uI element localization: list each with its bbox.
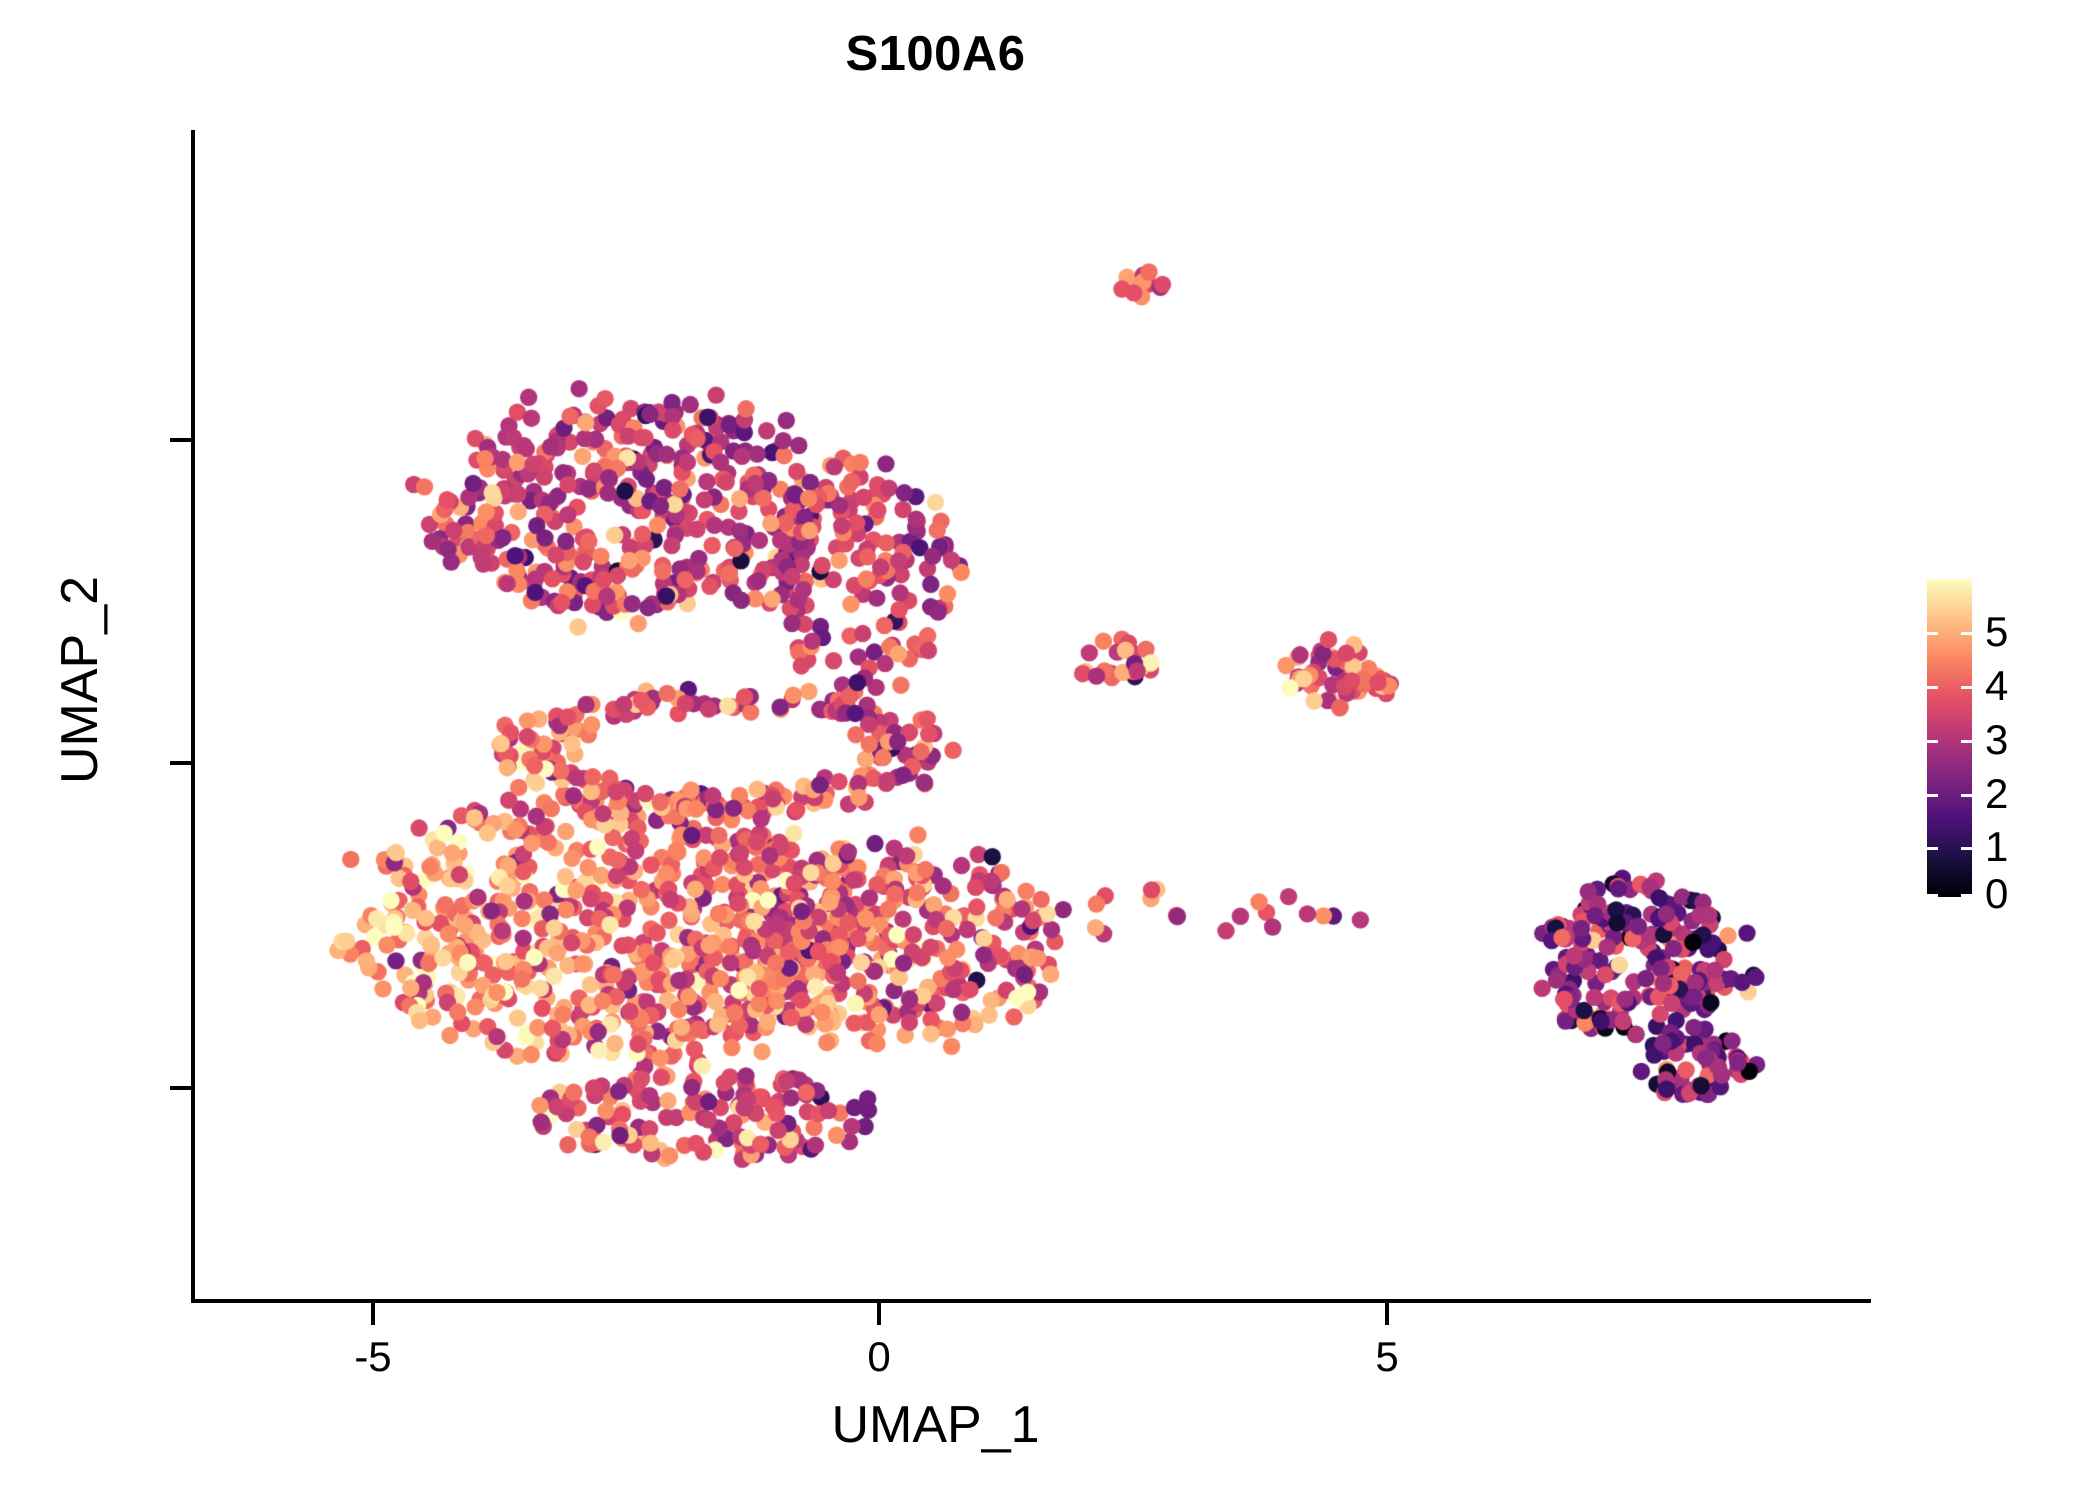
x-tick-label-neg5: -5 — [313, 1336, 433, 1378]
colorbar-tick-2-right — [1961, 794, 1972, 797]
plot-panel — [193, 130, 1871, 1301]
y-tick-neg4 — [170, 1086, 192, 1090]
page-title: S100A6 — [0, 26, 1871, 82]
x-axis-title: UMAP_1 — [0, 1395, 1871, 1455]
colorbar-label-5: 5 — [1985, 611, 2008, 653]
scatter-canvas — [193, 130, 1871, 1301]
colorbar-label-1: 1 — [1985, 826, 2008, 868]
colorbar-tick-4-right — [1961, 686, 1972, 689]
umap-feature-plot: S100A6 4 0 -4 -5 0 5 UMAP_1 UMAP_2 5 4 3… — [0, 0, 2100, 1500]
colorbar-label-2: 2 — [1985, 773, 2008, 815]
y-tick-4 — [170, 438, 192, 442]
colorbar-tick-3-left — [1927, 740, 1938, 743]
y-tick-0 — [170, 761, 192, 765]
colorbar-tick-1-left — [1927, 847, 1938, 850]
colorbar-tick-2-left — [1927, 794, 1938, 797]
colorbar-label-3: 3 — [1985, 719, 2008, 761]
colorbar-tick-1-right — [1961, 847, 1972, 850]
colorbar-tick-4-left — [1927, 686, 1938, 689]
colorbar-tick-3-right — [1961, 740, 1972, 743]
colorbar-tick-5-left — [1927, 632, 1938, 635]
x-tick-neg5 — [371, 1303, 375, 1325]
colorbar-tick-5-right — [1961, 632, 1972, 635]
colorbar-tick-0-left — [1927, 894, 1938, 897]
x-tick-label-5: 5 — [1327, 1336, 1447, 1378]
colorbar-label-4: 4 — [1985, 665, 2008, 707]
y-axis-line — [191, 130, 195, 1303]
y-axis-title: UMAP_2 — [50, 380, 110, 980]
colorbar-label-0: 0 — [1985, 873, 2008, 915]
x-tick-label-0: 0 — [819, 1336, 939, 1378]
x-axis-line — [191, 1299, 1871, 1303]
colorbar-tick-0-right — [1961, 894, 1972, 897]
x-tick-5 — [1385, 1303, 1389, 1325]
x-tick-0 — [877, 1303, 881, 1325]
colorbar-legend: 5 4 3 2 1 0 — [1927, 579, 2075, 897]
